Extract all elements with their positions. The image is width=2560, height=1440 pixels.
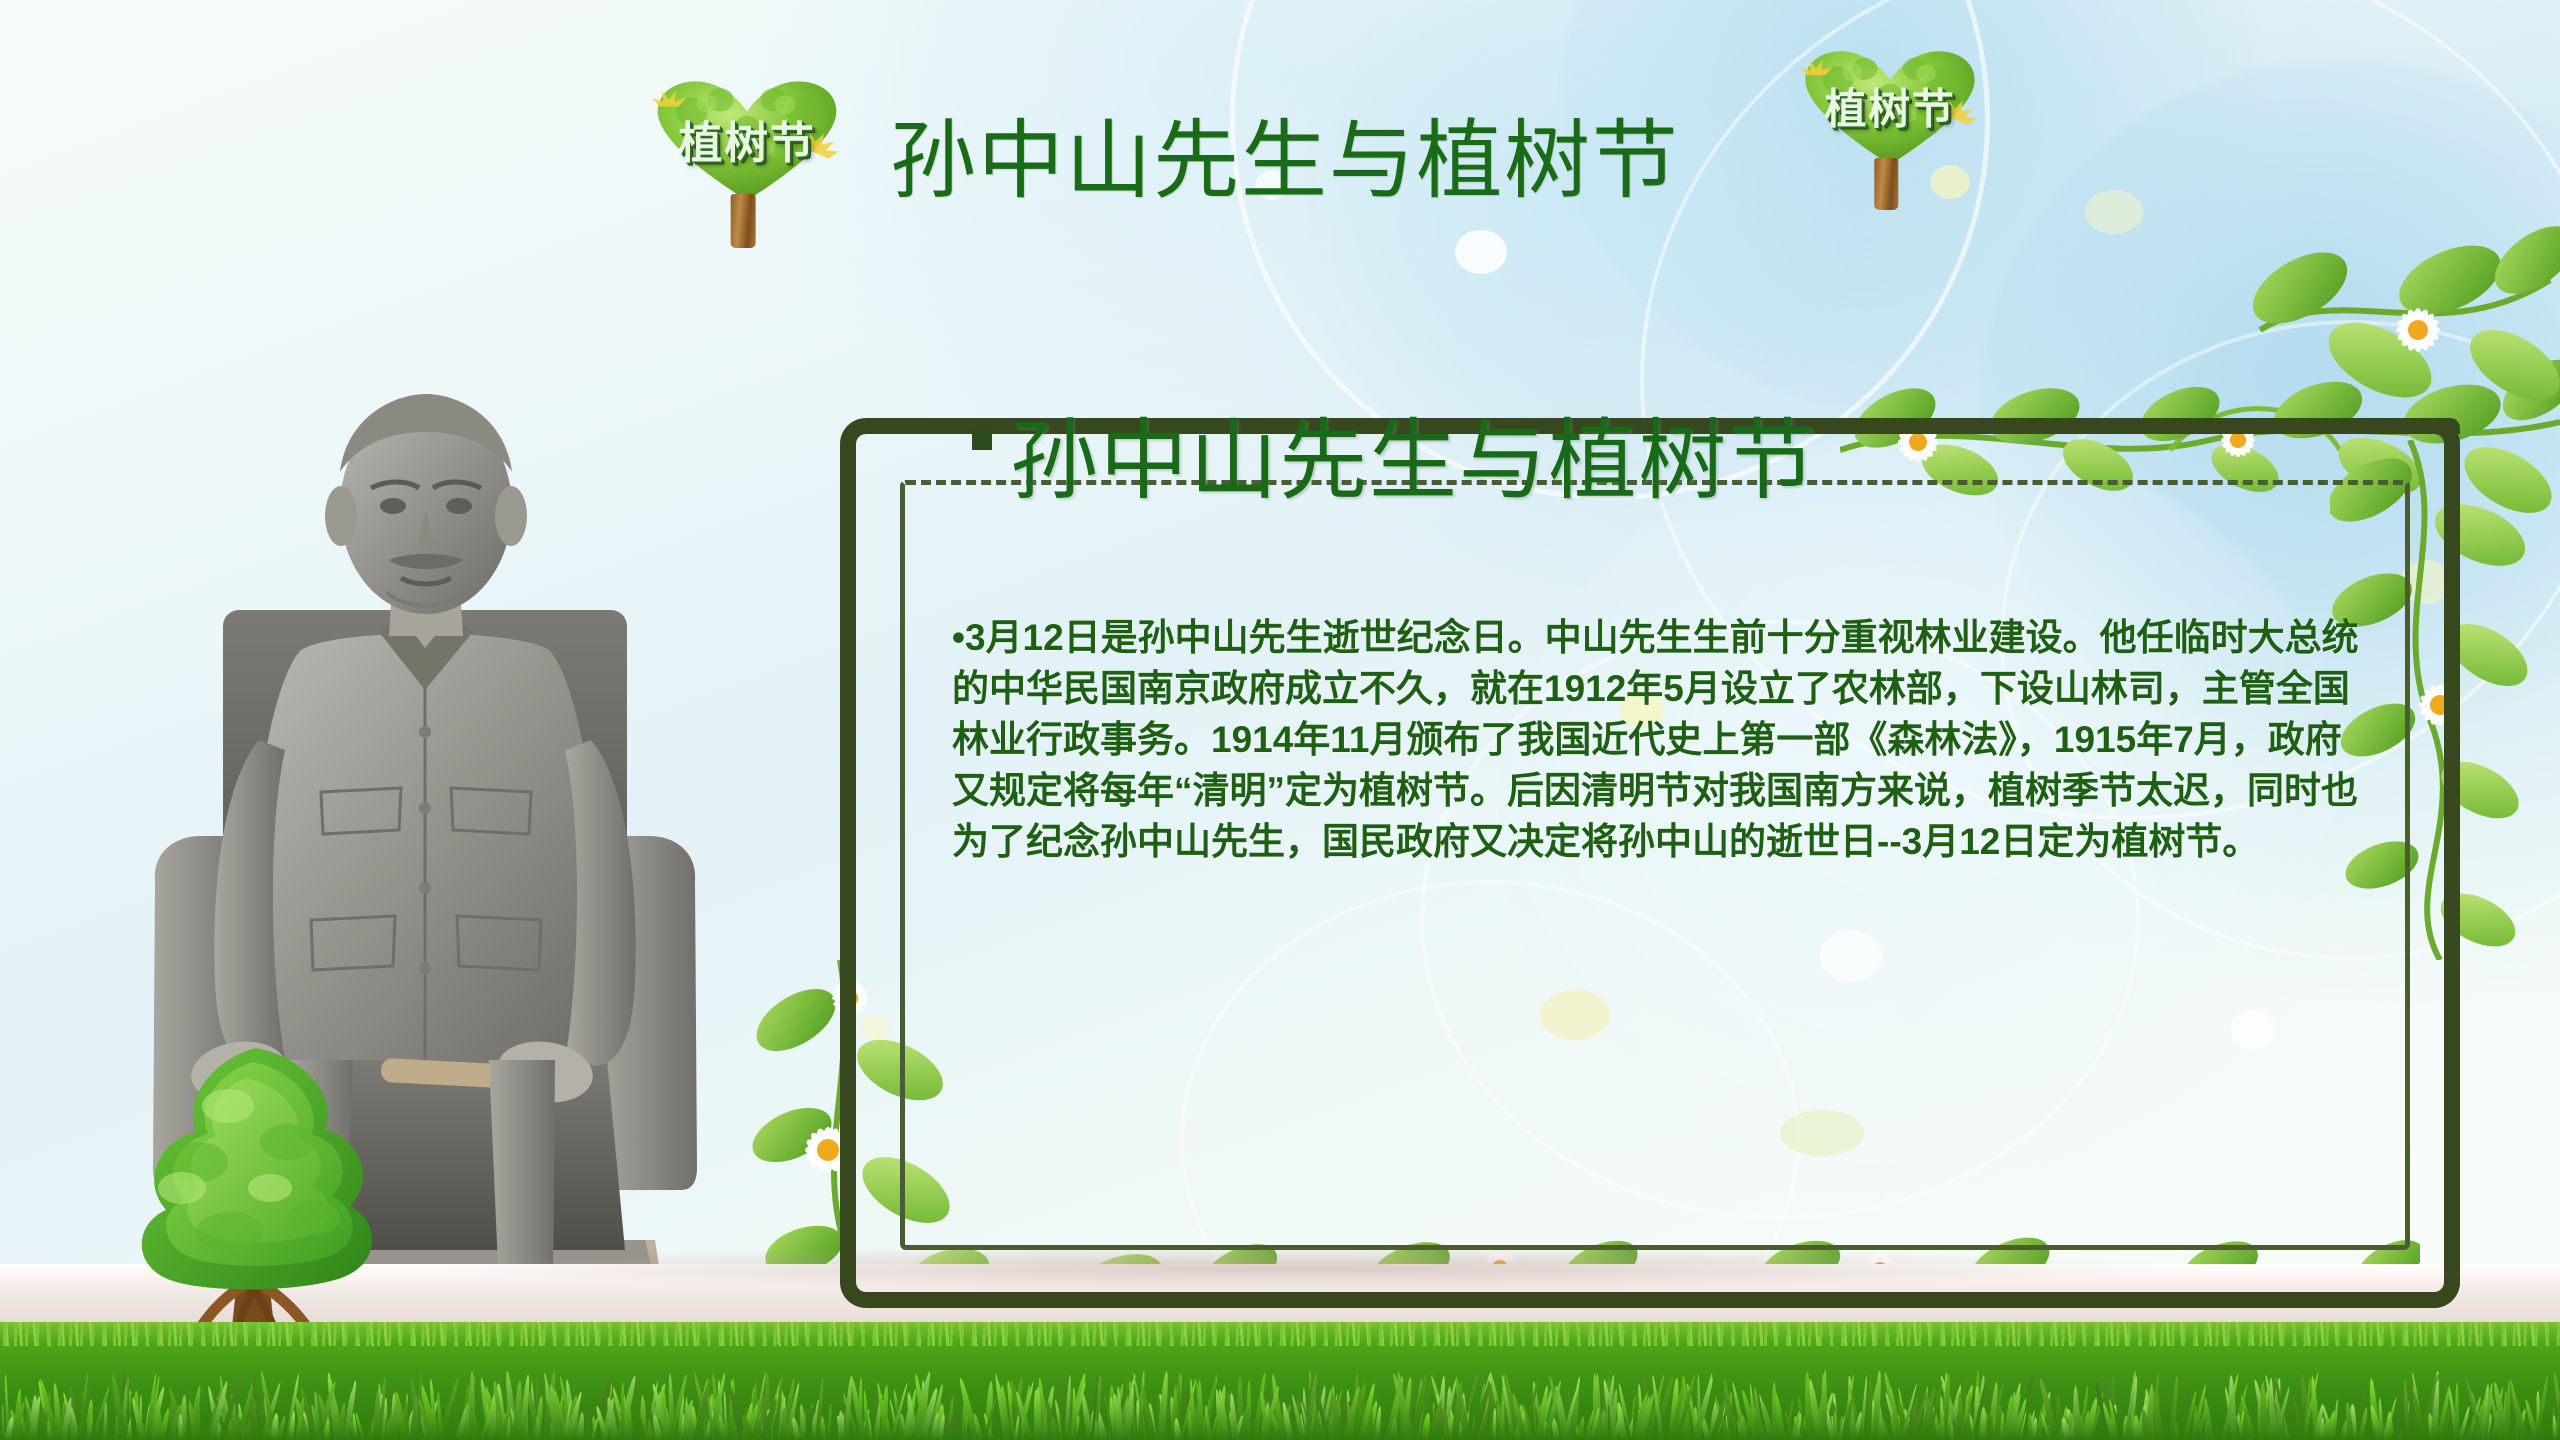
logo-label: 植树节 bbox=[1824, 76, 1955, 137]
body-paragraph: •3月12日是孙中山先生逝世纪念日。中山先生生前十分重视林业建设。他任临时大总统… bbox=[952, 612, 2372, 867]
main-title-bullet bbox=[972, 430, 992, 450]
header-title: 孙中山先生与植树节 bbox=[890, 90, 1679, 215]
logo-label: 植树节 bbox=[678, 107, 815, 171]
slide-canvas: 孙中山先生与植树节 孙中山先生与植树节 •3月12日是孙中山先生逝世纪念日。中山… bbox=[0, 0, 2560, 1440]
daisy-flower-icon bbox=[2395, 307, 2440, 352]
heart-tree-icon: 植树节 bbox=[652, 78, 842, 248]
tree-trunk bbox=[731, 194, 756, 248]
heart-tree-icon: 植树节 bbox=[1800, 48, 1980, 210]
page-title: 孙中山先生与植树节 bbox=[1010, 390, 1818, 517]
grass-strip-decoration bbox=[0, 1322, 2560, 1440]
tree-trunk bbox=[1875, 158, 1898, 210]
content-frame-outer-right bbox=[2420, 418, 2460, 1308]
